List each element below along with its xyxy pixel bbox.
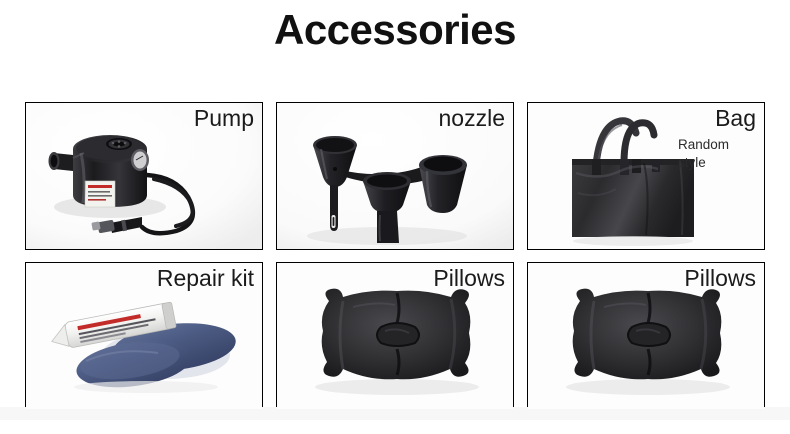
- card-label-pillows-2: Pillows: [684, 266, 756, 292]
- accessory-card-pillows-2[interactable]: Pillows: [527, 262, 765, 410]
- card-label-nozzle: nozzle: [439, 106, 505, 132]
- card-sublabel-bag: Random style: [678, 136, 756, 172]
- accessory-card-pillows-1[interactable]: Pillows: [276, 262, 514, 410]
- page-title: Accessories: [0, 6, 790, 54]
- card-label-pump: Pump: [194, 106, 254, 132]
- card-label-repair-kit: Repair kit: [157, 266, 254, 292]
- accessory-card-nozzle[interactable]: nozzle: [276, 102, 514, 250]
- accessory-card-repair-kit[interactable]: Repair kit: [25, 262, 263, 410]
- accessory-card-pump[interactable]: Pump: [25, 102, 263, 250]
- accessory-card-bag[interactable]: Bag Random style: [527, 102, 765, 250]
- card-label-bag: Bag: [715, 106, 756, 132]
- card-label-pillows-1: Pillows: [433, 266, 505, 292]
- accessories-grid: Pump: [25, 102, 765, 410]
